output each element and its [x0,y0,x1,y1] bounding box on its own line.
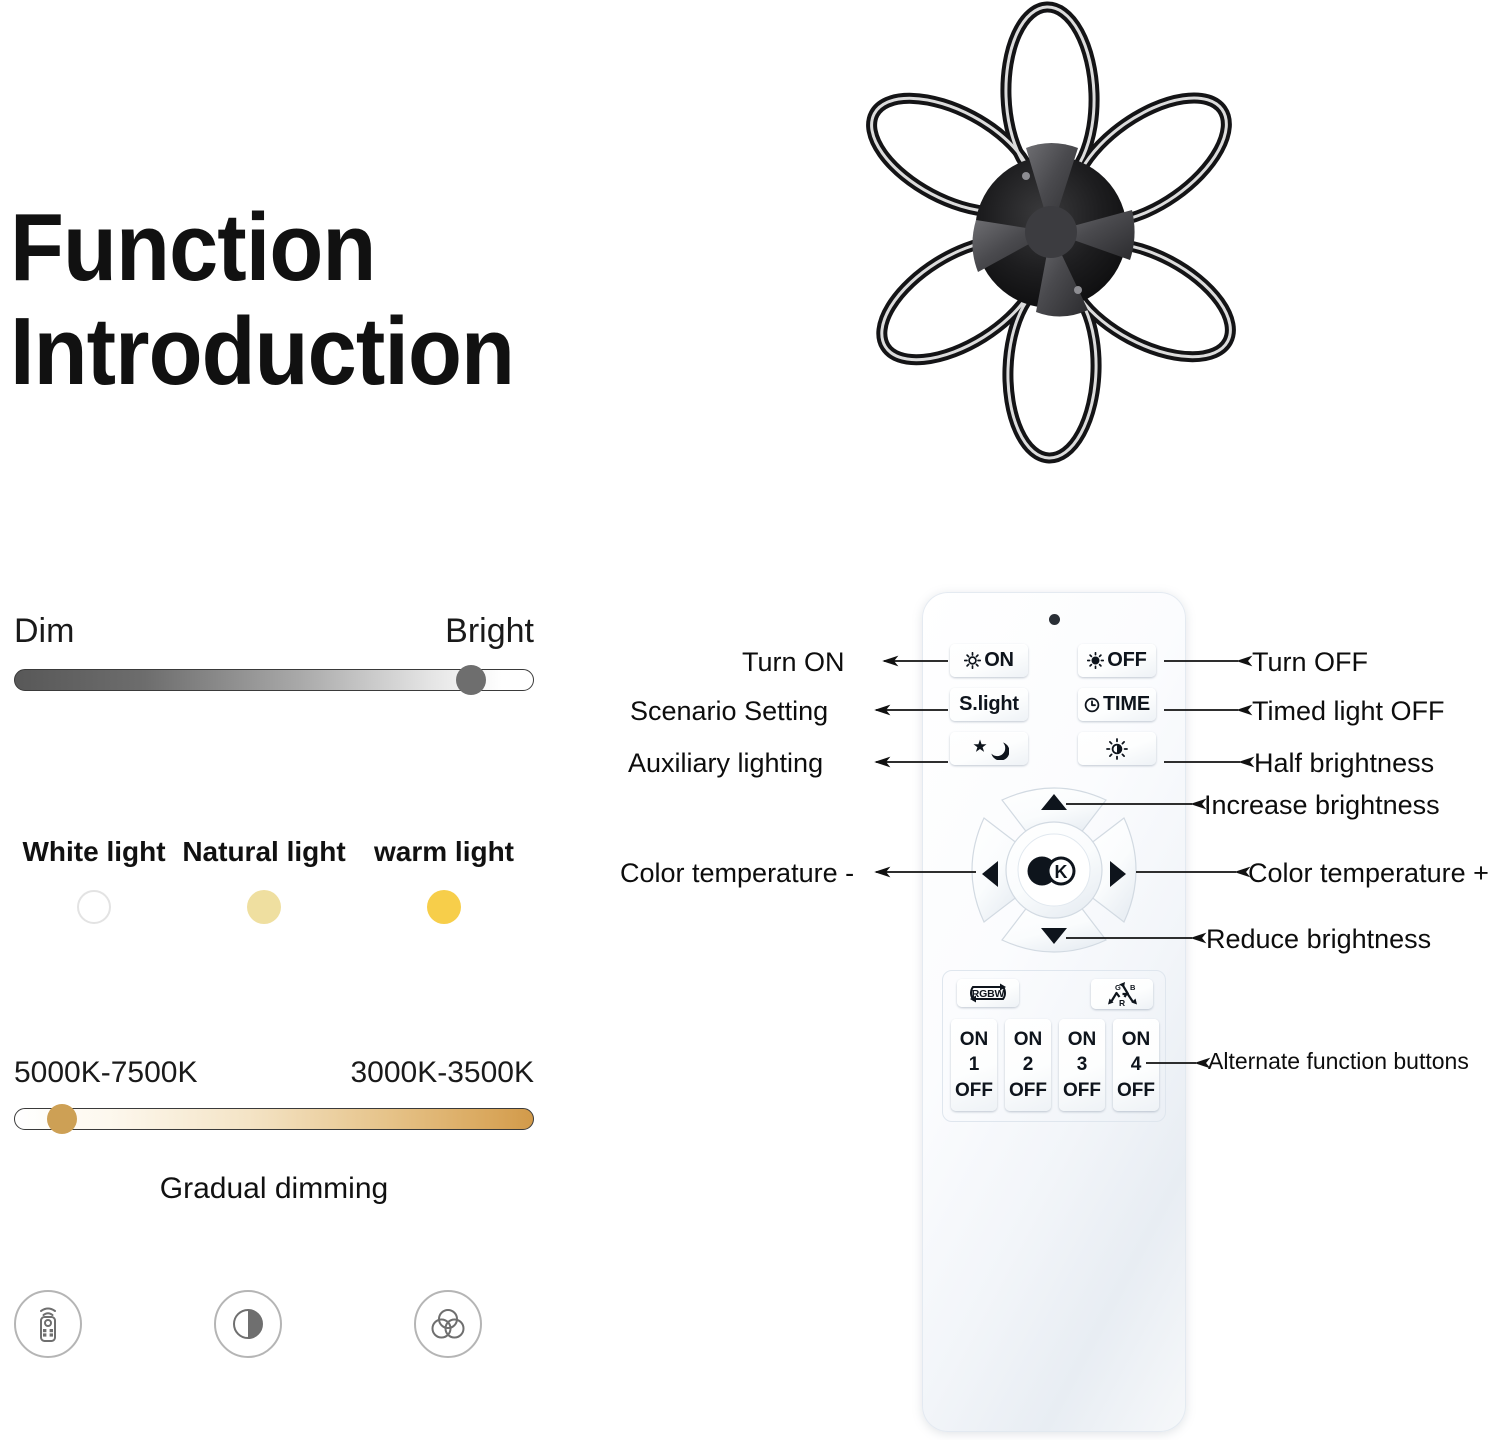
button-timer-label: TIME [1103,693,1150,716]
direction-pad: K [962,778,1146,962]
page-title-line2: Introduction [10,300,580,404]
rgb-recycle-icon: G B R [1099,981,1145,1007]
brightness-bright-label: Bright [445,612,534,651]
temp-cool-label: 5000K-7500K [14,1056,198,1090]
channel-3-on: ON [1068,1029,1097,1051]
color-temperature-slider-thumb[interactable] [47,1104,77,1134]
callout-auxiliary-lighting: Auxiliary lighting [628,748,823,779]
color-mode-natural[interactable]: Natural light [174,836,354,924]
color-mode-natural-label: Natural light [174,836,354,868]
page-title-line1: Function [10,196,580,300]
rgbw-loop-icon: RGBW [962,981,1014,1005]
callout-color-temp-plus: Color temperature + [1248,858,1489,889]
button-slight-label: S.light [959,693,1019,716]
callout-half-brightness: Half brightness [1254,748,1434,779]
channel-3-num: 3 [1077,1054,1088,1076]
channel-button-1[interactable]: ON 1 OFF [951,1019,997,1111]
lamp-center-arms [972,143,1134,317]
gradual-dimming-caption: Gradual dimming [14,1172,534,1206]
button-half-brightness[interactable] [1078,732,1156,765]
brightness-contrast-icon [214,1290,282,1358]
color-temperature-section: 5000K-7500K 3000K-3500K Gradual dimming [14,1056,534,1206]
callout-turn-on: Turn ON [742,647,845,678]
svg-text:R: R [1119,998,1125,1007]
brightness-slider-thumb[interactable] [456,665,486,695]
callout-reduce-brightness: Reduce brightness [1206,924,1431,955]
button-turn-off-label: OFF [1107,649,1146,672]
button-turn-off[interactable]: OFF [1078,644,1156,677]
page-title: Function Introduction [10,196,630,404]
remote-control: ON OFF S.light TIME [922,592,1186,1432]
channel-4-off: OFF [1117,1080,1155,1102]
button-turn-on[interactable]: ON [950,644,1028,677]
temp-warm-label: 3000K-3500K [351,1056,535,1090]
button-rgbw-mode[interactable]: RGBW [957,979,1019,1007]
color-swatch-warm[interactable] [427,890,461,924]
brightness-dim-label: Dim [14,612,74,651]
product-image-ceiling-lamp [820,0,1280,500]
svg-text:RGBW: RGBW [972,988,1005,1000]
channel-2-off: OFF [1009,1080,1047,1102]
button-auxiliary-light[interactable] [950,732,1028,765]
svg-text:G: G [1115,983,1121,992]
callout-turn-off: Turn OFF [1252,647,1368,678]
color-mode-white[interactable]: White light [14,836,174,924]
ir-led-indicator [1049,614,1060,625]
half-sun-icon [1106,738,1128,760]
remote-control-icon [14,1290,82,1358]
channel-button-2[interactable]: ON 2 OFF [1005,1019,1051,1111]
channel-1-off: OFF [955,1080,993,1102]
color-mode-warm[interactable]: warm light [354,836,534,924]
sun-filled-icon [1087,652,1104,669]
feature-icons-row [14,1290,534,1358]
button-timer[interactable]: TIME [1078,688,1156,721]
callout-alternate-function-buttons: Alternate function buttons [1208,1048,1469,1075]
channel-3-off: OFF [1063,1080,1101,1102]
clock-icon [1084,697,1100,713]
channel-2-num: 2 [1023,1054,1034,1076]
svg-text:K: K [1055,862,1068,882]
button-scenario-slight[interactable]: S.light [950,688,1028,721]
rgb-color-icon [414,1290,482,1358]
color-swatch-white[interactable] [77,890,111,924]
channel-1-num: 1 [969,1054,980,1076]
sun-outline-icon [964,652,981,669]
callout-color-temp-minus: Color temperature - [620,858,854,889]
brightness-slider-section: Dim Bright [14,612,534,691]
svg-text:B: B [1130,983,1136,992]
color-temperature-slider-track[interactable] [14,1108,534,1130]
channel-2-on: ON [1014,1029,1043,1051]
light-color-modes: White light Natural light warm light [14,836,534,924]
callout-increase-brightness: Increase brightness [1204,790,1440,821]
button-turn-on-label: ON [984,649,1014,672]
channel-4-on: ON [1122,1029,1151,1051]
color-swatch-natural[interactable] [247,890,281,924]
color-mode-warm-label: warm light [354,836,534,868]
button-rgb-cycle[interactable]: G B R [1091,979,1153,1009]
channel-4-num: 4 [1131,1054,1142,1076]
channel-1-on: ON [960,1029,989,1051]
moon-star-icon [969,738,1009,760]
alternate-function-panel: RGBW G B R [942,970,1166,1122]
callout-timed-light-off: Timed light OFF [1252,696,1445,727]
brightness-slider-track[interactable] [14,669,534,691]
channel-button-4[interactable]: ON 4 OFF [1113,1019,1159,1111]
callout-scenario-setting: Scenario Setting [630,696,828,727]
channel-button-3[interactable]: ON 3 OFF [1059,1019,1105,1111]
color-mode-white-label: White light [14,836,174,868]
